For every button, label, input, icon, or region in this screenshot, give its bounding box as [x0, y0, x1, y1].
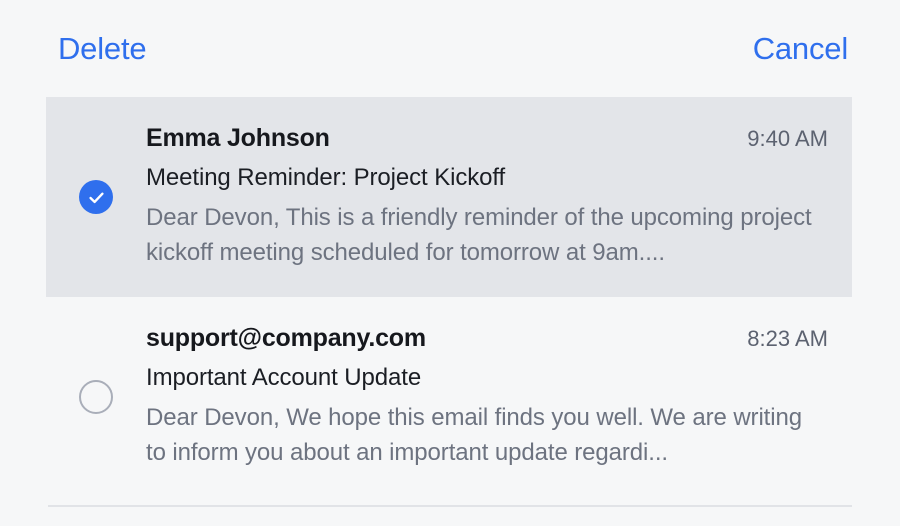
message-preview: Dear Devon, We hope this email finds you… — [146, 401, 828, 469]
message-timestamp: 9:40 AM — [747, 126, 828, 152]
check-circle-filled-icon[interactable] — [79, 180, 113, 214]
mail-selection-screen: Delete Cancel Emma Johnson 9:40 AM — [0, 0, 900, 526]
list-item[interactable]: Emma Johnson 9:40 AM Meeting Reminder: P… — [0, 97, 900, 297]
cancel-button[interactable]: Cancel — [753, 33, 848, 64]
message-content: Emma Johnson 9:40 AM Meeting Reminder: P… — [146, 102, 852, 291]
message-subject: Important Account Update — [146, 364, 828, 392]
action-toolbar: Delete Cancel — [0, 0, 900, 97]
message-header-line: Emma Johnson 9:40 AM — [146, 124, 828, 153]
message-row[interactable]: support@company.com 8:23 AM Important Ac… — [46, 297, 852, 497]
list-item[interactable]: support@company.com 8:23 AM Important Ac… — [0, 297, 900, 497]
delete-button[interactable]: Delete — [58, 33, 146, 64]
message-list: Emma Johnson 9:40 AM Meeting Reminder: P… — [0, 97, 900, 497]
message-subject: Meeting Reminder: Project Kickoff — [146, 164, 828, 192]
message-sender: support@company.com — [146, 324, 426, 353]
message-header-line: support@company.com 8:23 AM — [146, 324, 828, 353]
selection-control-column — [46, 380, 146, 414]
selection-control-column — [46, 180, 146, 214]
message-row-selected[interactable]: Emma Johnson 9:40 AM Meeting Reminder: P… — [46, 97, 852, 297]
list-divider — [48, 505, 852, 507]
message-preview: Dear Devon, This is a friendly reminder … — [146, 201, 828, 269]
circle-outline-icon[interactable] — [79, 380, 113, 414]
message-content: support@company.com 8:23 AM Important Ac… — [146, 302, 852, 491]
message-timestamp: 8:23 AM — [747, 326, 828, 352]
message-sender: Emma Johnson — [146, 124, 330, 153]
